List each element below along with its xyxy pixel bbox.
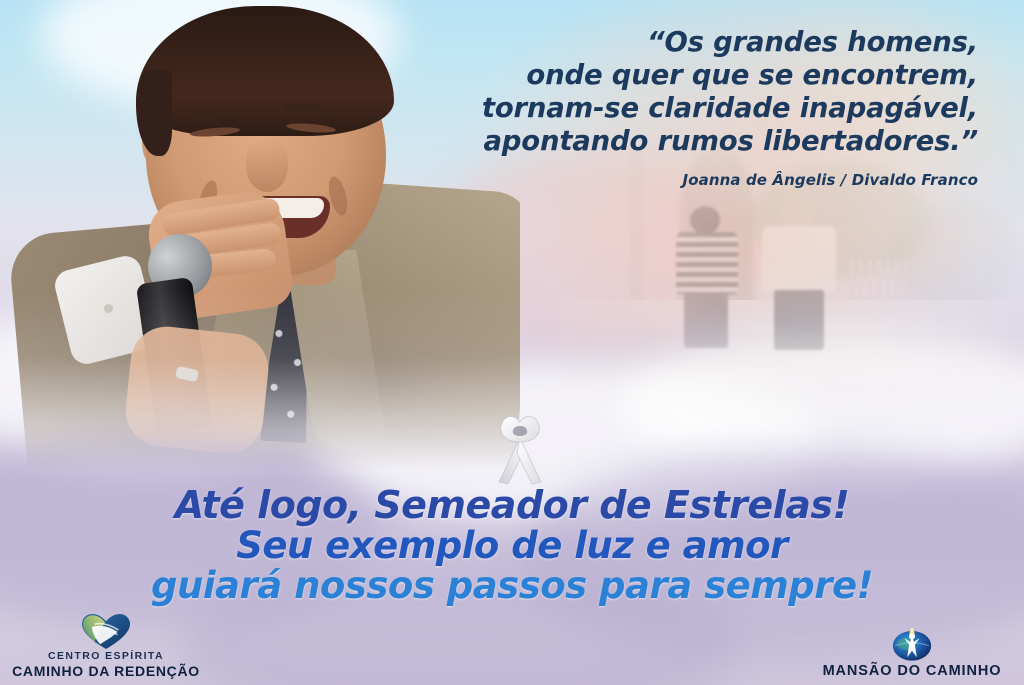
hand-holding-microphone — [122, 323, 272, 457]
logo-right-line-2: MANSÃO DO CAMINHO — [814, 663, 1010, 679]
person-striped-shirt — [670, 206, 742, 336]
quote-line-4: apontando rumos libertadores.” — [418, 125, 978, 158]
quote-block: “Os grandes homens, onde quer que se enc… — [418, 26, 978, 189]
logo-mansao-do-caminho: MANSÃO DO CAMINHO — [814, 623, 1010, 679]
cuff-button — [104, 304, 113, 313]
logo-left-line-1: CENTRO ESPÍRITA — [8, 650, 204, 663]
person-legs — [774, 290, 824, 350]
background-photo-two-people-walking — [560, 150, 1024, 430]
logo-centro-espirita: CENTRO ESPÍRITA CAMINHO DA REDENÇÃO — [8, 610, 204, 679]
headline-line-1: Até logo, Semeador de Estrelas! — [0, 485, 1024, 526]
nose — [246, 140, 288, 192]
memorial-poster: “Os grandes homens, onde quer que se enc… — [0, 0, 1024, 685]
person-head — [782, 198, 814, 228]
person-torso — [762, 226, 836, 292]
hair — [136, 6, 394, 136]
white-ribbon-icon — [482, 412, 558, 486]
globe-figure-flame-icon — [814, 623, 1010, 663]
person-head — [690, 206, 720, 234]
quote-line-3: tornam-se claridade inapagável, — [418, 92, 978, 125]
quote-line-2: onde quer que se encontrem, — [418, 59, 978, 92]
headline-line-2: Seu exemplo de luz e amor — [0, 526, 1024, 566]
quote-attribution: Joanna de Ângelis / Divaldo Franco — [418, 171, 978, 189]
headline-line-3: guiará nossos passos para sempre! — [0, 566, 1024, 606]
quote-line-1: “Os grandes homens, — [418, 26, 978, 59]
person-white-shirt — [758, 198, 842, 338]
person-torso — [676, 232, 738, 294]
person-legs — [684, 292, 728, 348]
headline-block: Até logo, Semeador de Estrelas! Seu exem… — [0, 485, 1024, 606]
heart-hands-icon — [8, 610, 204, 650]
logo-left-line-2: CAMINHO DA REDENÇÃO — [8, 663, 204, 679]
